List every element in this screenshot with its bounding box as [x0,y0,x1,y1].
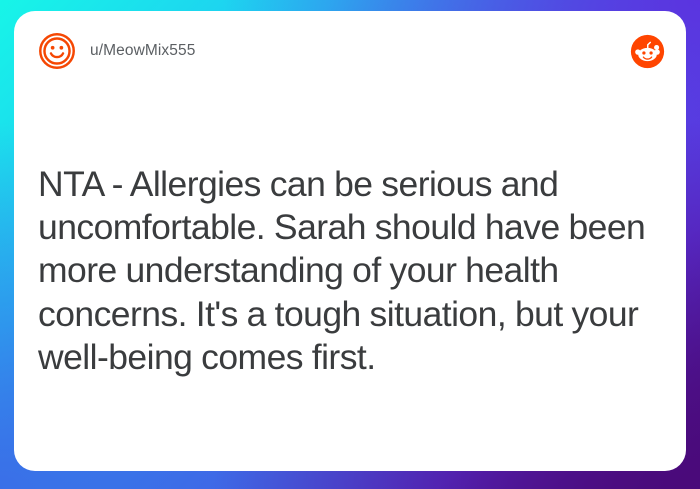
post-header: u/MeowMix555 [14,11,686,91]
post-body-text: NTA - Allergies can be serious and uncom… [38,163,658,379]
reddit-post-card: u/MeowMix555 NTA - Allergies can [14,11,686,471]
screenshot-root: u/MeowMix555 NTA - Allergies can [0,0,700,489]
reddit-snoo-logo-icon[interactable] [630,34,665,69]
avatar[interactable] [38,32,76,70]
smiley-face-avatar-icon [38,32,76,70]
username-label: u/MeowMix555 [90,42,195,60]
